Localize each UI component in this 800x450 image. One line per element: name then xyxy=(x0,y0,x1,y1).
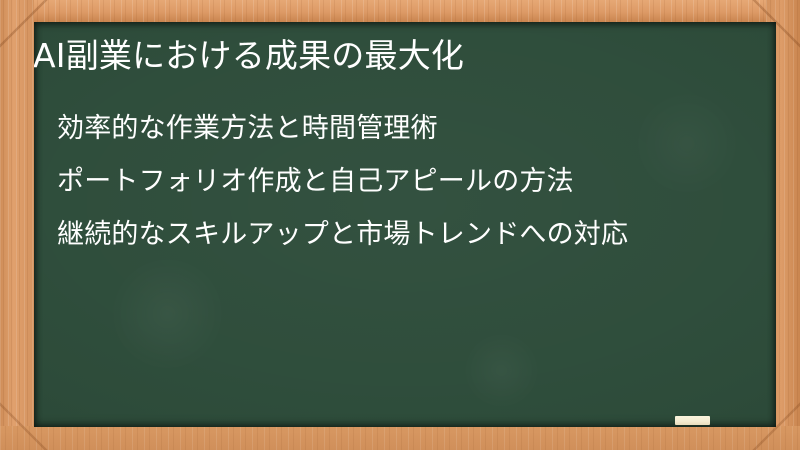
board-content: AI副業における成果の最大化 効率的な作業方法と時間管理術 ポートフォリオ作成と… xyxy=(34,22,776,427)
frame-rail-left xyxy=(0,0,34,450)
list-item: 効率的な作業方法と時間管理術 xyxy=(57,102,766,155)
list-item: 継続的なスキルアップと市場トレンドへの対応 xyxy=(57,208,766,261)
list-item: ポートフォリオ作成と自己アピールの方法 xyxy=(57,155,766,208)
chalkboard-surface: AI副業における成果の最大化 効率的な作業方法と時間管理術 ポートフォリオ作成と… xyxy=(34,22,776,427)
chalk-stick xyxy=(675,416,710,425)
page-title: AI副業における成果の最大化 xyxy=(34,34,757,78)
frame-rail-top-grain xyxy=(0,0,800,22)
bullet-list: 効率的な作業方法と時間管理術 ポートフォリオ作成と自己アピールの方法 継続的なス… xyxy=(57,102,766,261)
frame-rail-bottom xyxy=(0,426,800,450)
chalkboard-slide: AI副業における成果の最大化 効率的な作業方法と時間管理術 ポートフォリオ作成と… xyxy=(0,0,800,450)
